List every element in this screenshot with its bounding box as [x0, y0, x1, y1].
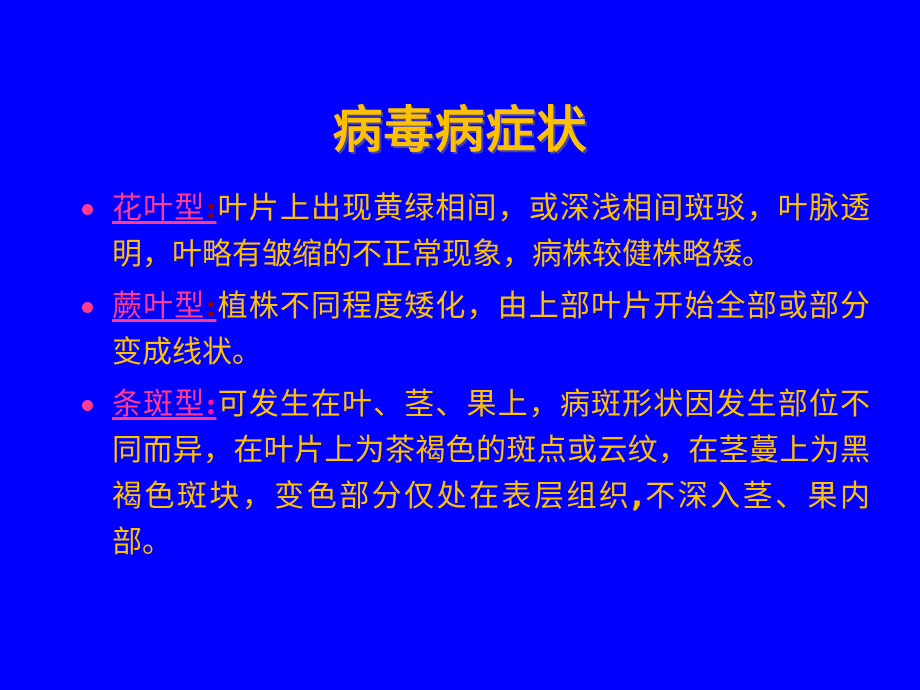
list-item: 花叶型:叶片上出现黄绿相间，或深浅相间斑驳，叶脉透明，叶略有皱缩的不正常现象，病… [70, 186, 870, 278]
page-title: 病毒病症状 [0, 100, 920, 159]
term-colon: : [205, 289, 216, 324]
term-colon: : [205, 191, 216, 226]
term-label: 花叶型 [112, 191, 205, 226]
bullet-dot-icon [82, 204, 93, 215]
term-description: 植株不同程度矮化，由上部叶片开始全部或部分变成线状。 [112, 289, 870, 370]
bullet-dot-icon [82, 302, 93, 313]
symptom-list: 花叶型:叶片上出现黄绿相间，或深浅相间斑驳，叶脉透明，叶略有皱缩的不正常现象，病… [70, 186, 870, 566]
term-description: 叶片上出现黄绿相间，或深浅相间斑驳，叶脉透明，叶略有皱缩的不正常现象，病株较健株… [112, 191, 870, 272]
latin-comma: , [631, 479, 642, 514]
term-label: 蕨叶型 [112, 289, 205, 324]
list-item: 蕨叶型:植株不同程度矮化，由上部叶片开始全部或部分变成线状。 [70, 284, 870, 376]
list-item: 条斑型:可发生在叶、茎、果上，病斑形状因发生部位不同而异，在叶片上为茶褐色的斑点… [70, 382, 870, 566]
term-colon: : [205, 387, 216, 422]
slide-canvas: 病毒病症状 花叶型:叶片上出现黄绿相间，或深浅相间斑驳，叶脉透明，叶略有皱缩的不… [0, 0, 920, 690]
term-label: 条斑型 [112, 387, 205, 422]
bullet-dot-icon [82, 400, 93, 411]
